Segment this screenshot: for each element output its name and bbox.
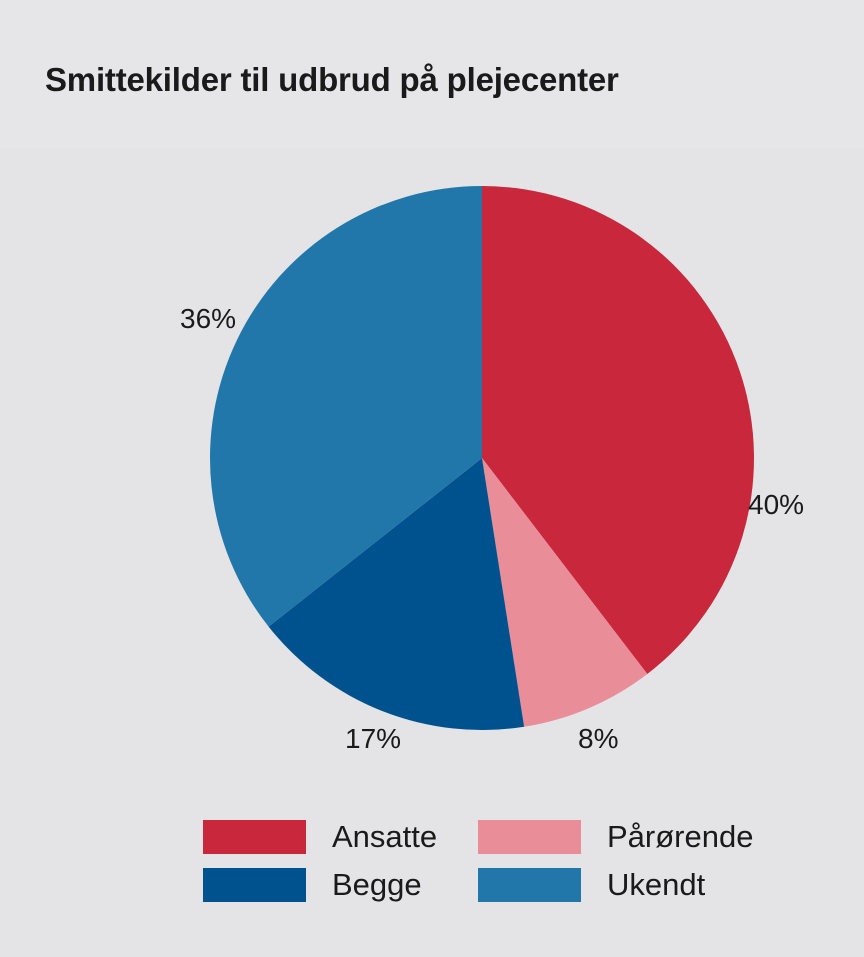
pie-chart-area: 40% 36% 17% 8% [0, 148, 864, 800]
pie-chart-svg [0, 148, 864, 800]
pie-label-begge: 17% [345, 723, 401, 755]
legend-label-begge: Begge [332, 868, 422, 902]
pie-label-ansatte: 40% [748, 489, 804, 521]
chart-legend: Ansatte Pårørende Begge Ukendt [0, 812, 864, 922]
legend-item-ansatte[interactable]: Ansatte [203, 820, 437, 854]
page-title: Smittekilder til udbrud på plejecenter [45, 61, 619, 99]
pie-label-ukendt: 36% [180, 303, 236, 335]
chart-figure: Smittekilder til udbrud på plejecenter 4… [0, 0, 864, 957]
legend-label-ansatte: Ansatte [332, 820, 437, 854]
legend-swatch-begge [203, 868, 306, 902]
legend-swatch-ansatte [203, 820, 306, 854]
legend-label-paaroerende: Pårørende [607, 820, 753, 854]
pie-label-paaroerende: 8% [578, 723, 618, 755]
legend-swatch-paaroerende [478, 820, 581, 854]
legend-item-begge[interactable]: Begge [203, 868, 422, 902]
legend-label-ukendt: Ukendt [607, 868, 705, 902]
pie-slices [210, 186, 754, 730]
legend-swatch-ukendt [478, 868, 581, 902]
legend-item-ukendt[interactable]: Ukendt [478, 868, 705, 902]
legend-item-paaroerende[interactable]: Pårørende [478, 820, 753, 854]
